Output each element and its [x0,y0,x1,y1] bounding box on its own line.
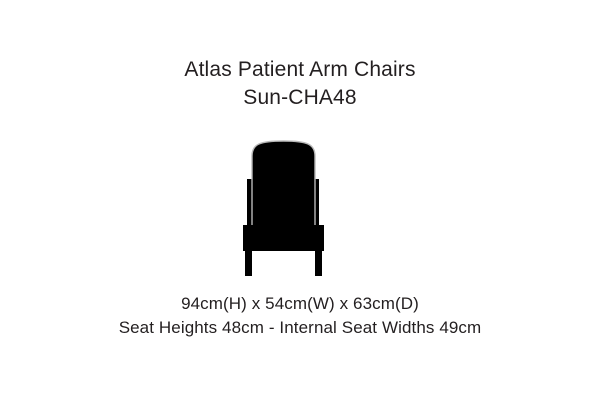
chair-illustration [0,130,600,285]
product-title-block: Atlas Patient Arm Chairs Sun-CHA48 [0,56,600,112]
spec-dimensions: 94cm(H) x 54cm(W) x 63cm(D) [0,292,600,316]
spec-seat-measurements: Seat Heights 48cm - Internal Seat Widths… [0,316,600,340]
page-title: Atlas Patient Arm Chairs [0,56,600,84]
seat-block [243,225,324,251]
patient-arm-chair-icon [240,130,360,285]
backrest [252,141,315,228]
product-code: Sun-CHA48 [0,84,600,112]
product-specifications: 94cm(H) x 54cm(W) x 63cm(D) Seat Heights… [0,292,600,340]
product-image-card: Atlas Patient Arm Chairs Sun-CHA48 94cm(… [0,0,600,420]
front-right-leg [315,250,322,276]
front-left-leg [245,250,252,276]
